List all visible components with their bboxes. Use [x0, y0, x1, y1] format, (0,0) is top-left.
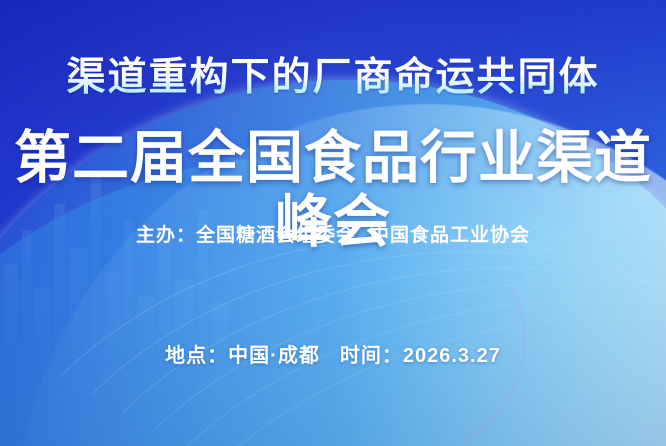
venue-label: 地点： [165, 345, 228, 367]
organizer-label: 主办： [136, 225, 196, 246]
poster-subtitle: 渠道重构下的厂商命运共同体 [0, 56, 666, 101]
organizer-name-1: 全国糖酒会组委会 [196, 225, 356, 246]
date-value: 2026.3.27 [403, 345, 501, 367]
venue-date-line: 地点：中国·成都时间：2026.3.27 [0, 339, 666, 368]
venue-value: 中国·成都 [228, 345, 320, 367]
date-label: 时间： [340, 345, 403, 367]
conference-poster: 渠道重构下的厂商命运共同体 第二届全国食品行业渠道峰会 主办：全国糖酒会组委会中… [0, 0, 666, 446]
organizer-name-2: 中国食品工业协会 [370, 225, 530, 246]
poster-content: 渠道重构下的厂商命运共同体 第二届全国食品行业渠道峰会 主办：全国糖酒会组委会中… [0, 0, 666, 446]
organizer-line: 主办：全国糖酒会组委会中国食品工业协会 [0, 220, 666, 247]
